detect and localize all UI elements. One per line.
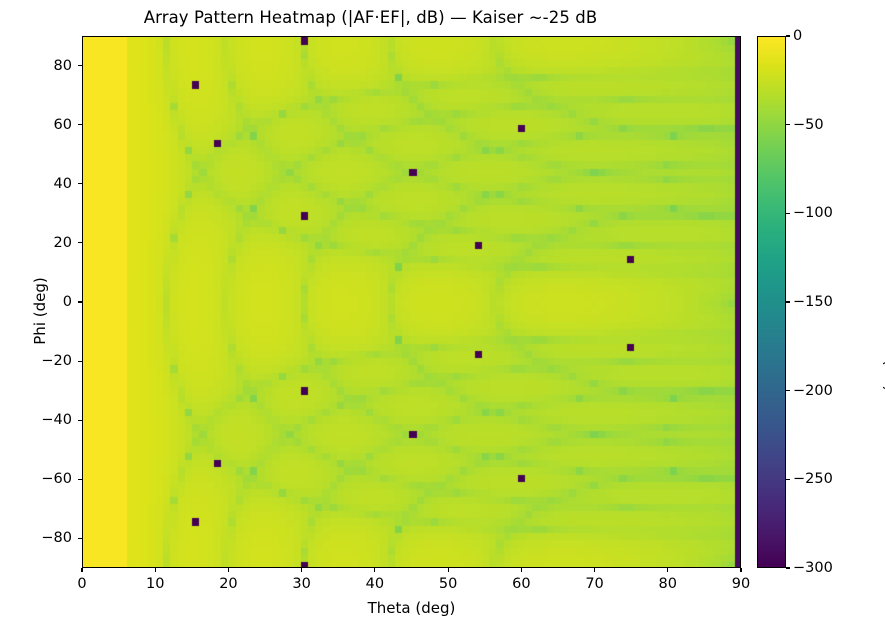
y-tick-mark <box>78 538 82 539</box>
x-axis-label: Theta (deg) <box>82 599 741 617</box>
heatmap-plot-area <box>82 36 741 568</box>
y-tick-mark <box>78 361 82 362</box>
x-tick-mark <box>448 568 449 572</box>
y-tick-mark <box>78 65 82 66</box>
x-tick-mark <box>667 568 668 572</box>
colorbar-tick-label: 0 <box>793 28 802 44</box>
x-tick-label: 0 <box>77 576 86 592</box>
colorbar-label: Normalized Gain (dB) <box>881 191 885 431</box>
y-tick-mark <box>78 479 82 480</box>
colorbar-tick-label: −150 <box>793 294 833 310</box>
colorbar-tick-mark <box>786 567 790 568</box>
chart-figure: Array Pattern Heatmap (|AF·EF|, dB) — Ka… <box>0 0 885 637</box>
colorbar-tick-mark <box>786 213 790 214</box>
y-tick-label: −40 <box>0 412 72 428</box>
x-tick-label: 70 <box>585 576 603 592</box>
y-tick-label: 60 <box>0 117 72 133</box>
y-tick-mark <box>78 183 82 184</box>
y-tick-label: 40 <box>0 176 72 192</box>
colorbar-tick-label: −50 <box>793 117 824 133</box>
y-tick-mark <box>78 124 82 125</box>
colorbar-gradient <box>757 36 786 568</box>
x-tick-mark <box>155 568 156 572</box>
colorbar-tick-label: −100 <box>793 205 833 221</box>
colorbar-tick-label: −300 <box>793 560 833 576</box>
colorbar-tick-mark <box>786 124 790 125</box>
y-tick-mark <box>78 420 82 421</box>
x-tick-mark <box>740 568 741 572</box>
x-tick-label: 10 <box>146 576 164 592</box>
x-tick-mark <box>521 568 522 572</box>
x-tick-label: 90 <box>732 576 750 592</box>
x-tick-mark <box>81 568 82 572</box>
y-tick-mark <box>78 242 82 243</box>
x-tick-label: 40 <box>366 576 384 592</box>
colorbar-tick-mark <box>786 301 790 302</box>
x-tick-label: 80 <box>659 576 677 592</box>
page-title: Array Pattern Heatmap (|AF·EF|, dB) — Ka… <box>0 8 741 27</box>
colorbar-tick-label: −250 <box>793 471 833 487</box>
colorbar-tick-label: −200 <box>793 383 833 399</box>
y-tick-label: 80 <box>0 58 72 74</box>
x-tick-mark <box>374 568 375 572</box>
x-tick-mark <box>594 568 595 572</box>
x-tick-mark <box>301 568 302 572</box>
colorbar <box>757 36 786 568</box>
x-tick-label: 50 <box>439 576 457 592</box>
x-tick-mark <box>228 568 229 572</box>
x-tick-label: 60 <box>512 576 530 592</box>
colorbar-tick-mark <box>786 390 790 391</box>
colorbar-tick-mark <box>786 479 790 480</box>
y-axis-label: Phi (deg) <box>31 211 49 411</box>
colorbar-tick-mark <box>786 35 790 36</box>
y-tick-label: −80 <box>0 530 72 546</box>
y-tick-mark <box>78 301 82 302</box>
x-tick-label: 30 <box>292 576 310 592</box>
x-tick-label: 20 <box>219 576 237 592</box>
heatmap-image <box>83 37 741 568</box>
y-tick-label: −60 <box>0 471 72 487</box>
